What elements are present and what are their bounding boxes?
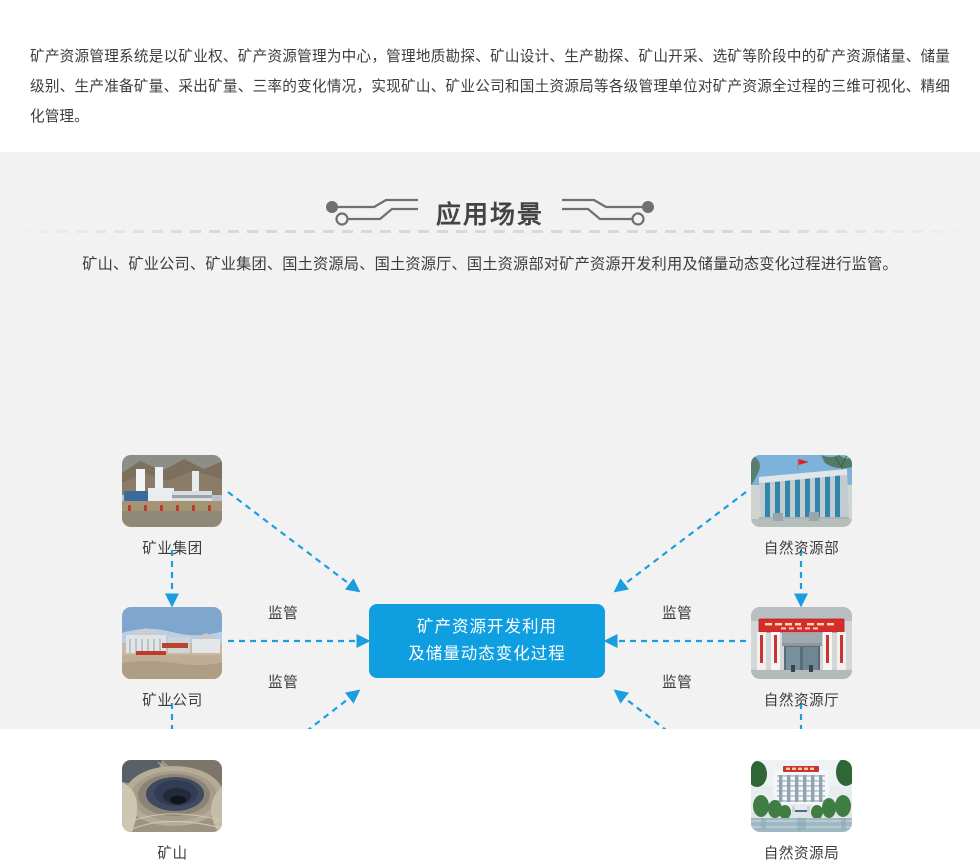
diagram-node-ministry[interactable]: 自然资源部	[751, 455, 852, 558]
bureau-building-photo	[751, 760, 852, 832]
arrow-bureau-to-center	[622, 696, 746, 729]
edge-label-supervise-4: 监管	[662, 671, 692, 692]
intro-paragraph: 矿产资源管理系统是以矿业权、矿产资源管理为中心，管理地质勘探、矿山设计、生产勘探…	[30, 42, 950, 132]
center-box-line-1: 矿产资源开发利用	[417, 614, 557, 641]
node-caption: 自然资源部	[751, 537, 852, 558]
arrow-ministry-to-center	[622, 492, 746, 586]
department-building-photo	[751, 607, 852, 679]
node-caption: 矿业公司	[122, 689, 223, 710]
ministry-building-photo	[751, 455, 852, 527]
arrow-group-to-center	[228, 492, 352, 586]
center-box-line-2: 及储量动态变化过程	[408, 641, 566, 668]
edge-label-supervise-3: 监管	[662, 602, 692, 623]
dashed-divider	[0, 230, 980, 233]
node-caption: 自然资源局	[751, 842, 852, 863]
diagram-node-bureau[interactable]: 自然资源局	[751, 760, 852, 863]
page-title: 应用场景	[436, 203, 544, 228]
node-caption: 矿业集团	[122, 537, 223, 558]
diagram-node-department[interactable]: 自然资源厅	[751, 607, 852, 710]
center-process-box[interactable]: 矿产资源开发利用 及储量动态变化过程	[369, 604, 605, 678]
edge-label-supervise-1: 监管	[268, 602, 298, 623]
edge-label-supervise-2: 监管	[268, 671, 298, 692]
circuit-ornament-left-icon	[324, 198, 420, 233]
diagram-node-mining-group[interactable]: 矿业集团	[122, 455, 223, 558]
node-caption: 矿山	[122, 842, 223, 863]
node-caption: 自然资源厅	[751, 689, 852, 710]
application-scenario-section: 应用场景 矿山、矿业公司、矿业集团、国土资源局、国土资源厅、国土资源部对矿产资源…	[0, 152, 980, 729]
scenario-description: 矿山、矿业公司、矿业集团、国土资源局、国土资源厅、国土资源部对矿产资源开发利用及…	[0, 253, 980, 277]
open-pit-mine-photo	[122, 760, 222, 832]
diagram-node-mining-company[interactable]: 矿业公司	[122, 607, 223, 710]
diagram-node-mine[interactable]: 矿山	[122, 760, 223, 863]
scenario-diagram: 矿业集团	[0, 292, 980, 729]
intro-band: 矿产资源管理系统是以矿业权、矿产资源管理为中心，管理地质勘探、矿山设计、生产勘探…	[0, 0, 980, 152]
arrow-mine-to-center	[228, 696, 352, 729]
mining-company-photo	[122, 607, 222, 679]
circuit-ornament-right-icon	[560, 198, 656, 233]
mining-group-photo	[122, 455, 222, 527]
